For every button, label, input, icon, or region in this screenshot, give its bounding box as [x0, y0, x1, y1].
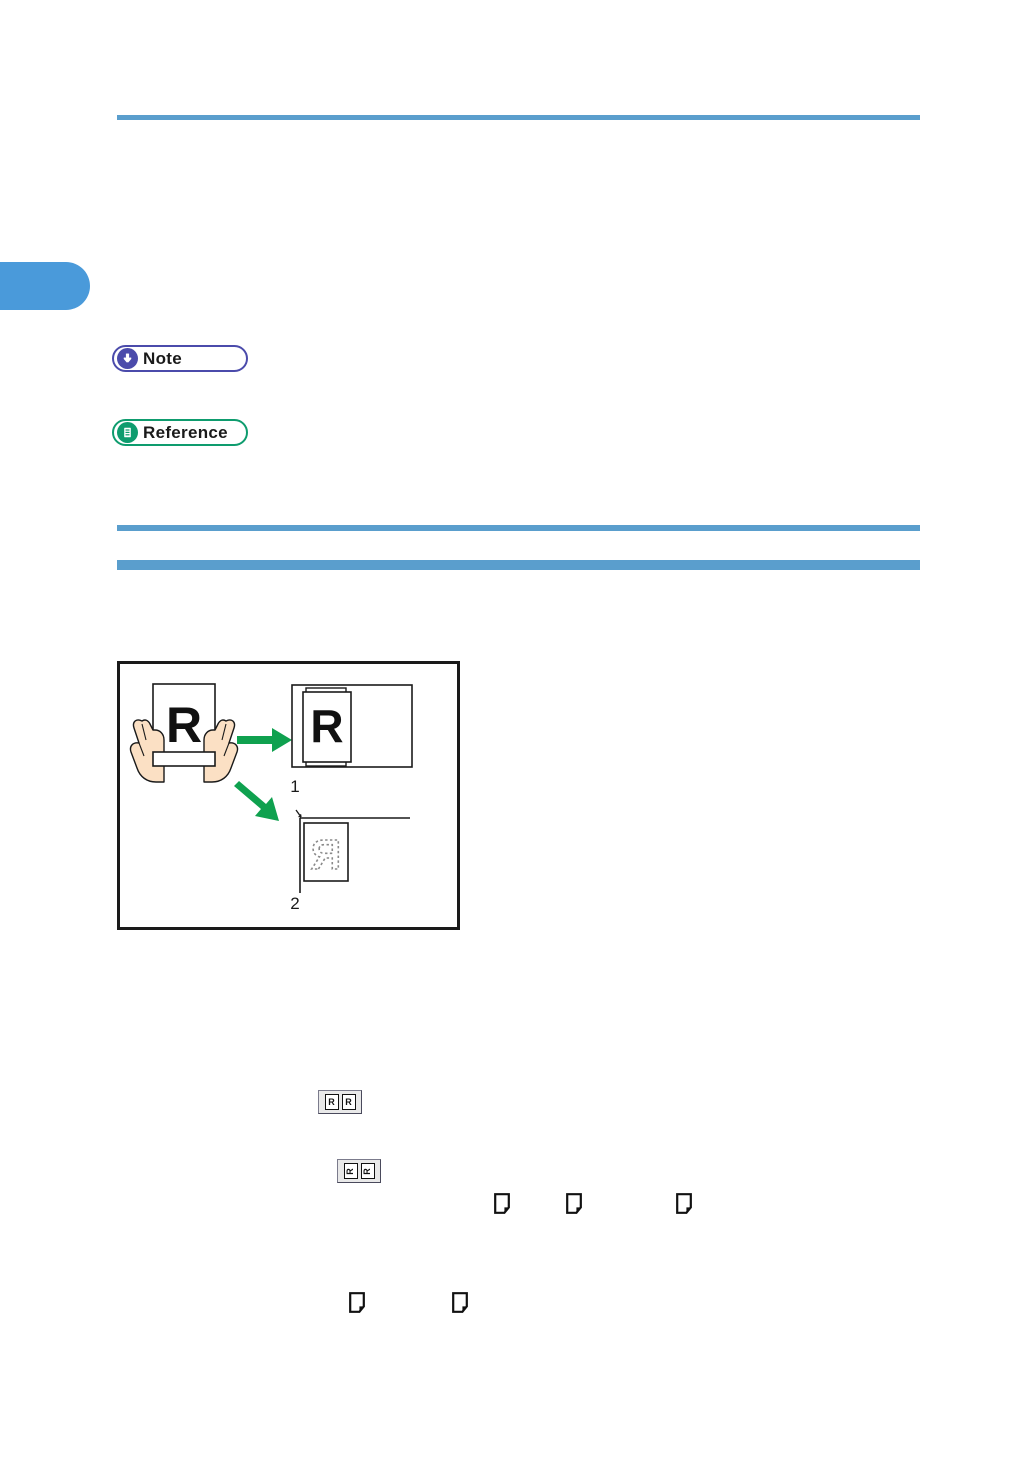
- figure-callout-2: 2: [290, 894, 299, 913]
- mini-page-rotated-label-right: R: [363, 1168, 372, 1175]
- section-rule-lower: [117, 560, 920, 570]
- orientation-rotated-button-icon[interactable]: R R: [337, 1159, 381, 1183]
- document-page: Note Reference R: [0, 0, 1036, 1470]
- chapter-thumb-tab: [0, 262, 90, 310]
- mini-page-rotated-label-left: R: [346, 1168, 355, 1175]
- mini-page-rotated-icon-left: R: [344, 1163, 358, 1179]
- reference-badge: Reference: [112, 419, 248, 446]
- document-icon: [117, 422, 138, 443]
- page-icon-5: [452, 1292, 468, 1313]
- orientation-readable-button-icon[interactable]: R R: [318, 1090, 362, 1114]
- exposure-glass-target: R: [296, 810, 410, 893]
- mini-page-icon-left: R: [325, 1094, 339, 1110]
- page-icon-4: [349, 1292, 365, 1313]
- svg-text:R: R: [166, 697, 202, 753]
- reference-badge-label: Reference: [143, 424, 228, 441]
- svg-text:R: R: [311, 831, 341, 878]
- page-icon-3: [676, 1193, 692, 1214]
- document-feeder-target: R: [292, 685, 412, 767]
- down-arrow-icon: [117, 348, 138, 369]
- page-icon-2: [566, 1193, 582, 1214]
- mini-page-icon-right: R: [342, 1094, 356, 1110]
- note-badge: Note: [112, 345, 248, 372]
- note-badge-label: Note: [143, 350, 182, 367]
- mini-page-rotated-icon-right: R: [361, 1163, 375, 1179]
- section-rule-upper: [117, 525, 920, 531]
- arrow-to-feeder-icon: [237, 728, 292, 752]
- header-rule: [117, 115, 920, 120]
- figure-callout-1: 1: [290, 777, 299, 796]
- arrow-to-exposure-glass-icon: [234, 781, 279, 821]
- original-orientation-illustration: R: [117, 661, 460, 930]
- page-icon-1: [494, 1193, 510, 1214]
- svg-text:R: R: [310, 700, 343, 752]
- hands-holding-original: R: [130, 684, 237, 782]
